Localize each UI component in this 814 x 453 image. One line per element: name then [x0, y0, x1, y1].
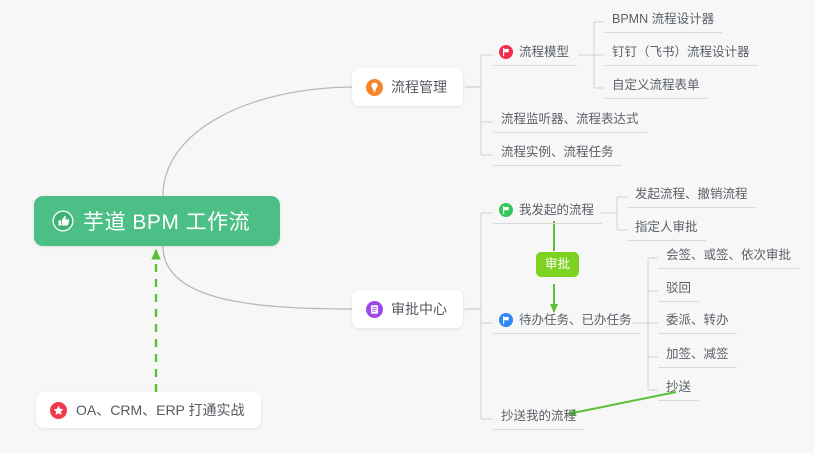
leaf-process-instance[interactable]: 流程实例、流程任务 — [493, 144, 622, 166]
integration-card-label: OA、CRM、ERP 打通实战 — [76, 400, 261, 420]
leaf-my-started-processes[interactable]: 我发起的流程 — [493, 202, 602, 224]
leaf-label: 发起流程、撤销流程 — [635, 187, 748, 201]
flag-icon — [499, 203, 513, 217]
leaf-carbon-copy[interactable]: 抄送 — [658, 379, 699, 401]
leaf-label: 加签、减签 — [666, 347, 729, 361]
leaf-label: 流程模型 — [519, 45, 569, 59]
integration-card[interactable]: OA、CRM、ERP 打通实战 — [36, 392, 261, 428]
leaf-custom-form[interactable]: 自定义流程表单 — [604, 77, 708, 99]
branch-label: 审批中心 — [391, 299, 463, 319]
leaf-label: BPMN 流程设计器 — [612, 12, 714, 26]
leaf-delegate-transfer[interactable]: 委派、转办 — [658, 312, 737, 334]
approval-badge-label: 审批 — [545, 257, 570, 271]
doc-icon — [366, 301, 383, 318]
leaf-label: 抄送我的流程 — [501, 409, 576, 423]
leaf-todo-done-tasks[interactable]: 待办任务、已办任务 — [493, 312, 640, 334]
leaf-label: 我发起的流程 — [519, 203, 594, 217]
branch-process-management[interactable]: 流程管理 — [352, 68, 463, 106]
leaf-label: 流程监听器、流程表达式 — [501, 112, 639, 126]
leaf-process-listener[interactable]: 流程监听器、流程表达式 — [493, 111, 647, 133]
leaf-label: 驳回 — [666, 281, 691, 295]
star-icon — [50, 402, 67, 419]
branch-label: 流程管理 — [391, 77, 463, 97]
leaf-countersign[interactable]: 会签、或签、依次审批 — [658, 247, 799, 269]
leaf-label: 抄送 — [666, 380, 691, 394]
flag-icon — [499, 45, 513, 59]
leaf-add-remove-sign[interactable]: 加签、减签 — [658, 346, 737, 368]
leaf-label: 钉钉（飞书）流程设计器 — [612, 45, 750, 59]
leaf-dingtalk-designer[interactable]: 钉钉（飞书）流程设计器 — [604, 44, 758, 66]
leaf-label: 自定义流程表单 — [612, 78, 700, 92]
leaf-start-cancel-process[interactable]: 发起流程、撤销流程 — [627, 186, 756, 208]
leaf-label: 会签、或签、依次审批 — [666, 248, 791, 262]
leaf-reject[interactable]: 驳回 — [658, 280, 699, 302]
leaf-process-model[interactable]: 流程模型 — [493, 44, 577, 66]
root-label: 芋道 BPM 工作流 — [83, 206, 250, 236]
leaf-label: 流程实例、流程任务 — [501, 145, 614, 159]
lightbulb-icon — [366, 79, 383, 96]
branch-approval-center[interactable]: 审批中心 — [352, 290, 463, 328]
approval-badge[interactable]: 审批 — [536, 252, 579, 277]
leaf-bpmn-designer[interactable]: BPMN 流程设计器 — [604, 11, 722, 33]
thumbs-up-icon — [52, 210, 74, 232]
leaf-cc-to-me[interactable]: 抄送我的流程 — [493, 408, 584, 430]
leaf-label: 委派、转办 — [666, 313, 729, 327]
leaf-label: 指定人审批 — [635, 220, 698, 234]
leaf-assignee-approval[interactable]: 指定人审批 — [627, 219, 706, 241]
root-node[interactable]: 芋道 BPM 工作流 — [34, 196, 280, 246]
flag-icon — [499, 313, 513, 327]
leaf-label: 待办任务、已办任务 — [519, 313, 632, 327]
mindmap-canvas: 芋道 BPM 工作流 流程管理 流程模型 BPMN 流程设计器 钉钉（飞书）流程… — [0, 0, 814, 453]
